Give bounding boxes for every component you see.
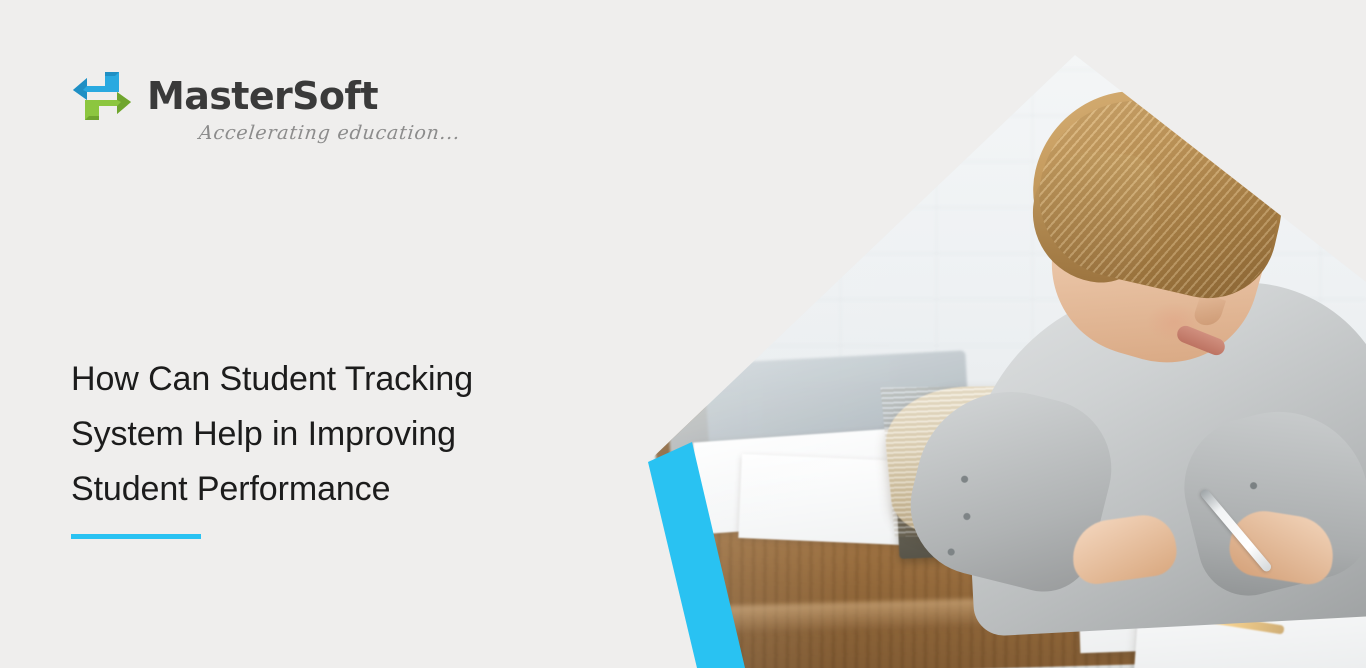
brand-wordmark: MasterSoft [147,77,378,115]
page-title-line-2: System Help in Improving [71,407,611,462]
brand-tagline: Accelerating education... [198,122,462,144]
page-title: How Can Student Tracking System Help in … [71,352,611,517]
student-figure [648,40,1366,668]
hero-banner: MasterSoft Accelerating education... How… [0,0,1366,668]
page-title-line-3: Student Performance [71,462,611,517]
brand-logo[interactable]: MasterSoft Accelerating education... [71,70,421,160]
mastersoft-pinwheel-logo-icon [71,70,133,122]
page-title-line-1: How Can Student Tracking [71,352,611,407]
title-accent-rule [71,534,201,539]
hero-photo [648,40,1366,668]
